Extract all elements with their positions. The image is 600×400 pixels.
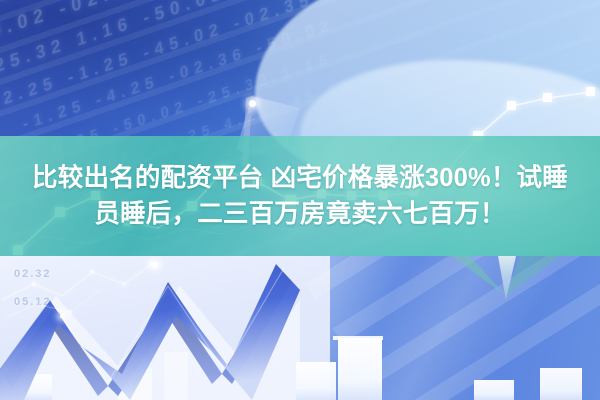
mini-network-glow: [2, 261, 155, 318]
news-banner-image: -45.02 -11.25 -50.02 -25.32 -02.35 -50.0…: [0, 0, 600, 400]
headline-line-1: 比较出名的配资平台 凶宅价格暴涨300%！试睡: [32, 161, 568, 195]
lamp-glow-dot: [249, 100, 256, 107]
lower-chart-artwork: [0, 256, 600, 400]
network-glow-dot: [152, 262, 158, 268]
headline: 比较出名的配资平台 凶宅价格暴涨300%！试睡 员睡后，二三百万房竟卖六七百万！: [0, 136, 600, 256]
lower-background-scene: 02.32 05.12: [0, 256, 600, 400]
headline-line-2: 员睡后，二三百万房竟卖六七百万！: [94, 197, 505, 231]
network-glow-dot: [60, 314, 64, 318]
